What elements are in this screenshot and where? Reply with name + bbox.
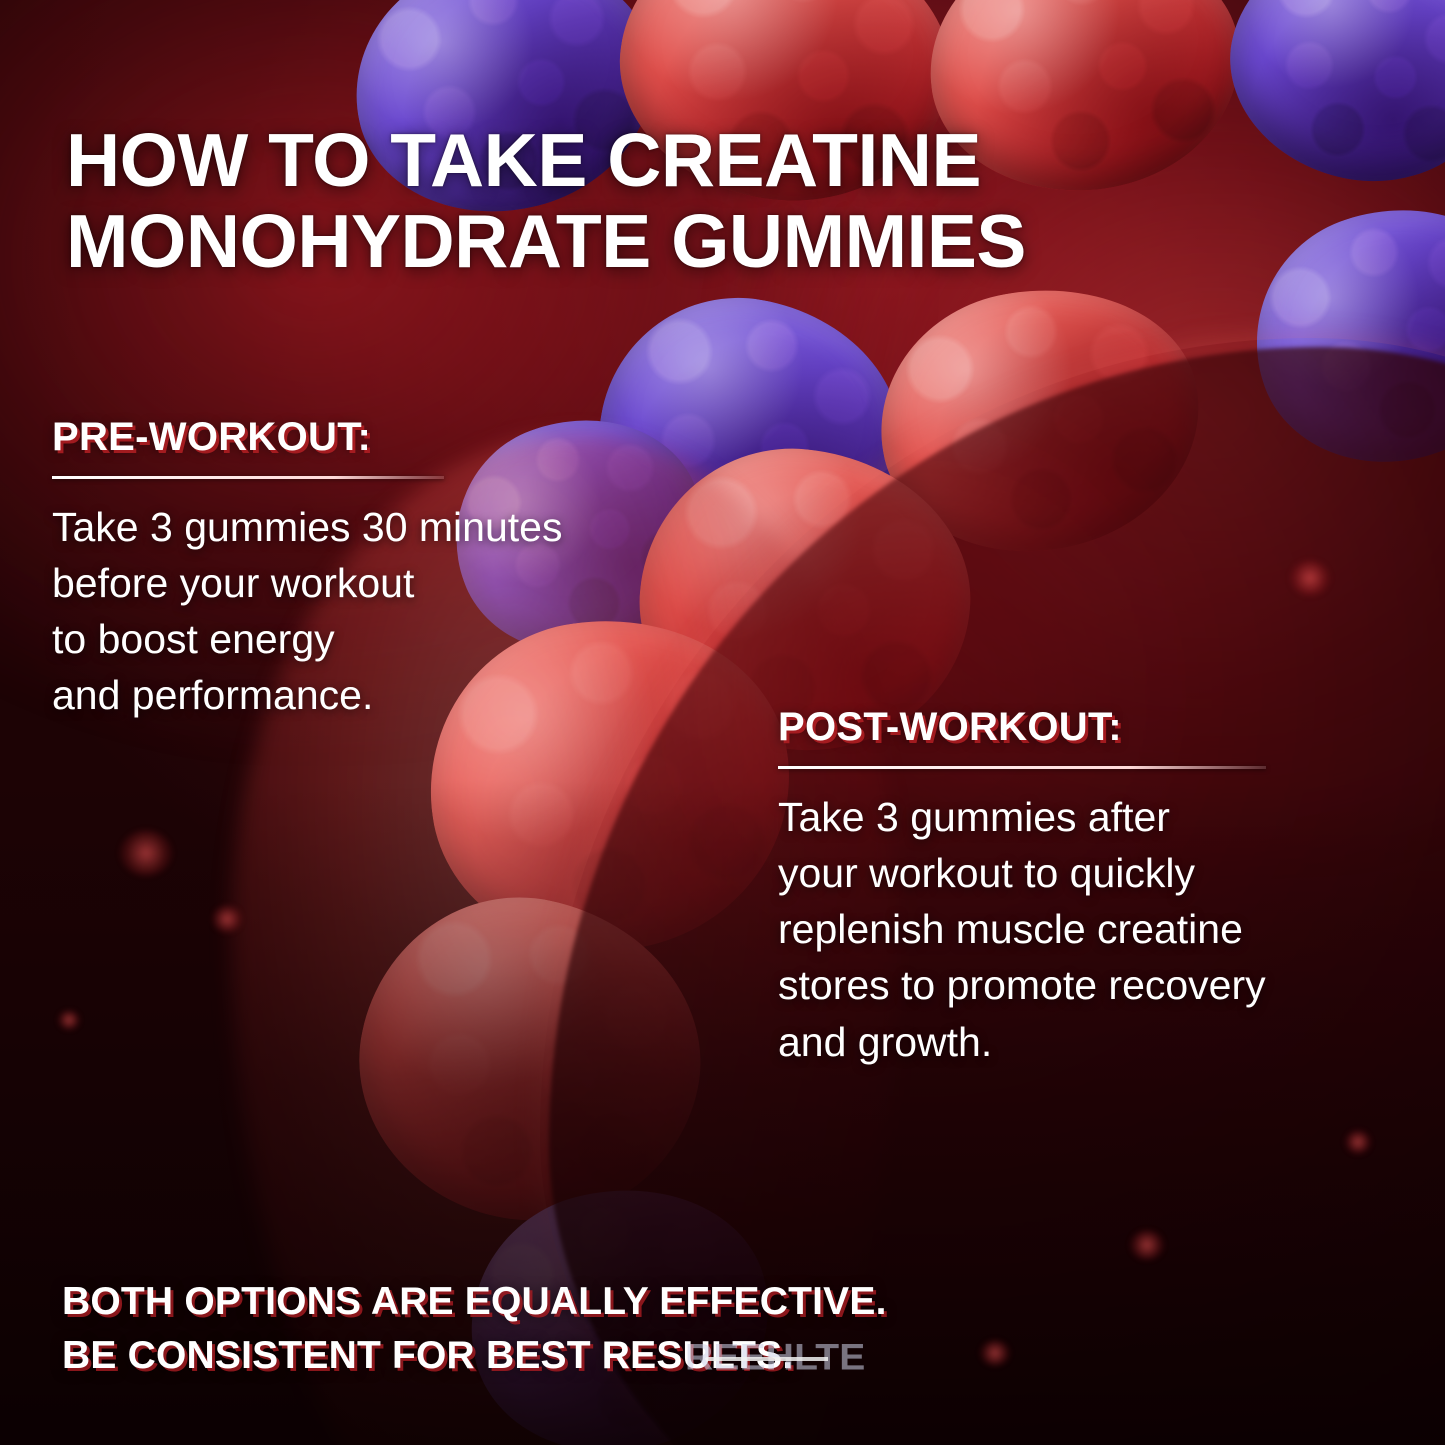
body-line: before your workout [52, 555, 752, 611]
headline-line-1: HOW TO TAKE CREATINE [66, 118, 981, 202]
body-line: Take 3 gummies after [778, 789, 1418, 845]
section-post-workout-divider [778, 766, 1266, 769]
body-line: your workout to quickly [778, 845, 1418, 901]
light-speck [1290, 560, 1330, 596]
light-speck [212, 905, 242, 933]
light-speck [58, 1010, 80, 1030]
section-post-workout-title: POST-WORKOUT: [778, 705, 1418, 750]
light-speck [1130, 1230, 1164, 1260]
body-line: stores to promote recovery [778, 957, 1418, 1013]
footer-line-2-text: BE CONSISTENT FOR BEST RESULTS. [62, 1334, 793, 1377]
body-line: and growth. [778, 1014, 1418, 1070]
section-post-workout-body: Take 3 gummies after your workout to qui… [778, 789, 1418, 1070]
section-pre-workout-title: PRE-WORKOUT: [52, 415, 752, 460]
light-speck [120, 830, 172, 876]
footer-line-1: BOTH OPTIONS ARE EQUALLY EFFECTIVE. [62, 1275, 1382, 1329]
footer-text: BOTH OPTIONS ARE EQUALLY EFFECTIVE. BE C… [62, 1275, 1382, 1383]
body-line: replenish muscle creatine [778, 901, 1418, 957]
section-pre-workout-divider [52, 476, 444, 479]
body-line: Take 3 gummies 30 minutes [52, 499, 752, 555]
section-pre-workout: PRE-WORKOUT: Take 3 gummies 30 minutes b… [52, 415, 752, 724]
section-pre-workout-body: Take 3 gummies 30 minutes before your wo… [52, 499, 752, 724]
body-line: and performance. [52, 667, 752, 723]
footer-artifact-strike [706, 1357, 828, 1361]
light-speck [1345, 1130, 1371, 1154]
poster-image: HOW TO TAKE CREATINE MONOHYDRATE GUMMIES… [0, 0, 1445, 1445]
page-title: HOW TO TAKE CREATINE MONOHYDRATE GUMMIES [66, 120, 1306, 282]
headline-line-2: MONOHYDRATE GUMMIES [66, 201, 1306, 282]
body-line: to boost energy [52, 611, 752, 667]
footer-line-2: BE CONSISTENT FOR BEST RESULTS. REEHLTE [62, 1329, 1382, 1383]
section-post-workout: POST-WORKOUT: Take 3 gummies after your … [778, 705, 1418, 1070]
